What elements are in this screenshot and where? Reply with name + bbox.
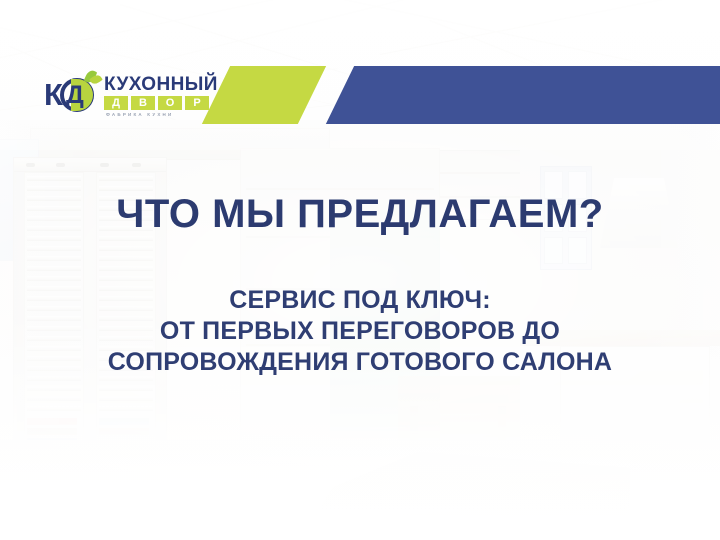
slide-title: ЧТО МЫ ПРЕДЛАГАЕМ? — [0, 192, 720, 237]
subtitle-line: СОПРОВОЖДЕНИЯ ГОТОВОГО САЛОНА — [0, 347, 720, 378]
avito-watermark: Avito — [615, 499, 707, 526]
brand-logo[interactable]: К Д КУХОННЫЙ Д В О Р ФАБРИКА КУХНИ — [44, 72, 204, 122]
logo-wordmark: КУХОННЫЙ — [104, 74, 218, 95]
avito-wordmark: Avito — [642, 499, 707, 526]
logo-subword: Д В О Р — [104, 96, 209, 110]
subtitle-line: ОТ ПЕРВЫХ ПЕРЕГОВОРОВ ДО — [0, 316, 720, 347]
avito-logo-icon — [615, 502, 637, 524]
slide-subtitle: СЕРВИС ПОД КЛЮЧ: ОТ ПЕРВЫХ ПЕРЕГОВОРОВ Д… — [0, 285, 720, 378]
logo-subword-letter: В — [131, 96, 155, 110]
logo-subword-letter: Р — [185, 96, 209, 110]
logo-subword-letter: Д — [104, 96, 128, 110]
logo-monogram-icon: К Д — [44, 76, 98, 114]
logo-letter-d: Д — [66, 81, 84, 109]
logo-subword-letter: О — [158, 96, 182, 110]
header-blue-banner — [326, 66, 720, 124]
subtitle-line: СЕРВИС ПОД КЛЮЧ: — [0, 285, 720, 316]
logo-tagline: ФАБРИКА КУХНИ — [106, 112, 173, 117]
presentation-slide: К Д КУХОННЫЙ Д В О Р ФАБРИКА КУХНИ ЧТО М… — [0, 0, 720, 540]
